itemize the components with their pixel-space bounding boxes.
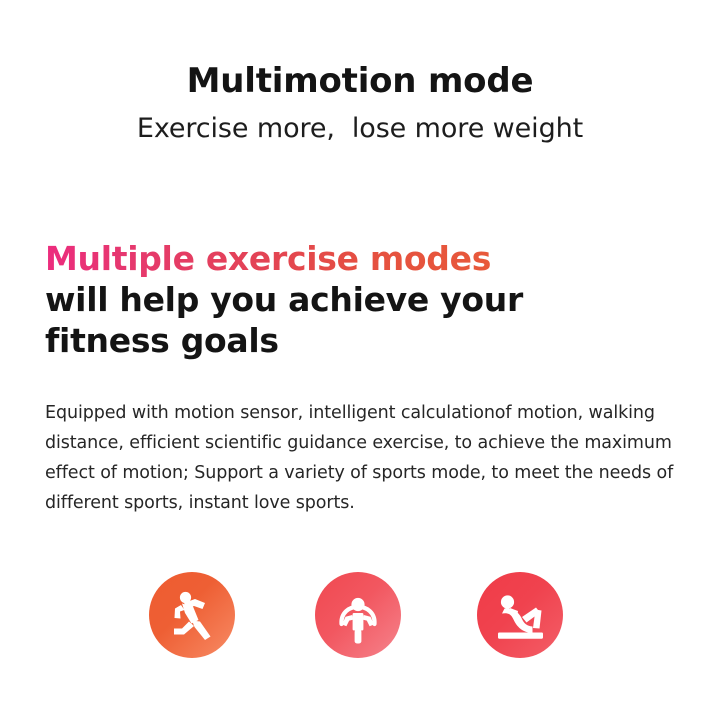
- headline-line-gradient-text: Multiple exercise modes: [45, 238, 491, 279]
- headline-line-2: will help you achieve your: [45, 279, 645, 320]
- promo-banner: Multimotion mode Exercise more, lose mor…: [0, 0, 720, 720]
- page-title: Multimotion mode: [0, 62, 720, 101]
- body-paragraph: Equipped with motion sensor, intelligent…: [45, 398, 675, 518]
- sit-up-icon: [477, 572, 563, 658]
- page-subtitle: Exercise more, lose more weight: [0, 113, 720, 145]
- headline-line-1: Multiple exercise modes: [45, 238, 645, 279]
- jump-rope-icon: [315, 572, 401, 658]
- exercise-mode-icon-row: [0, 572, 720, 662]
- header: Multimotion mode Exercise more, lose mor…: [0, 62, 720, 145]
- headline-line-3: fitness goals: [45, 320, 645, 361]
- running-icon: [149, 572, 235, 658]
- headline-block: Multiple exercise modes will help you ac…: [45, 238, 645, 361]
